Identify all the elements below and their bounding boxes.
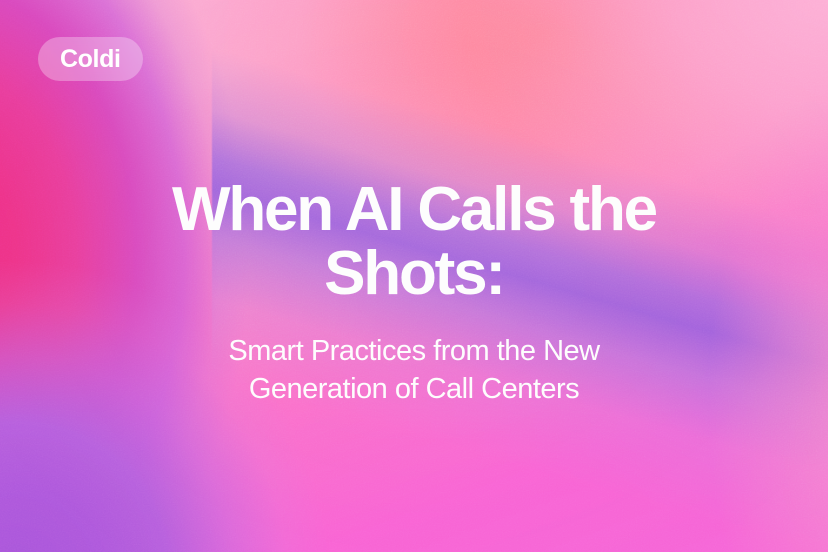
poster-canvas: Coldi When AI Calls the Shots: Smart Pra… [0, 0, 828, 552]
hero-subheadline: Smart Practices from the New Generation … [179, 332, 649, 409]
hero-headline: When AI Calls the Shots: [134, 178, 694, 306]
hero-text-block: When AI Calls the Shots: Smart Practices… [0, 178, 828, 409]
brand-logo-label: Coldi [60, 47, 121, 72]
brand-logo-badge[interactable]: Coldi [38, 37, 143, 81]
